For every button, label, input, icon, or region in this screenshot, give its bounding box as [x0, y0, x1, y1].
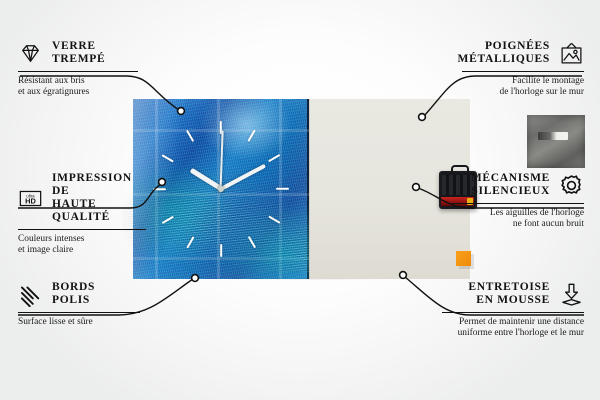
callout-desc-line1: Permet de maintenir une distance	[442, 317, 584, 328]
callout-poignees-metalliques: POIGNÉES MÉTALLIQUES Facilite le montage…	[462, 40, 584, 99]
svg-text:HD: HD	[25, 196, 36, 205]
callout-title-line1: ENTRETOISE	[468, 281, 550, 294]
callout-title-line2: POLIS	[52, 294, 95, 307]
foam-spacer-arrow-icon	[559, 282, 584, 307]
product-image	[133, 99, 470, 279]
callout-divider	[18, 312, 140, 313]
callout-title-line1: POIGNÉES	[458, 40, 550, 53]
callout-entretoise-en-mousse: ENTRETOISE EN MOUSSE Permet de maintenir…	[442, 281, 584, 340]
callout-title-line1: IMPRESSION DE	[52, 172, 146, 198]
callout-desc-line2: et aux égratignures	[18, 87, 138, 98]
callout-bords-polis: BORDS POLIS Surface lisse et sûre	[18, 281, 140, 328]
callout-desc-line1: Couleurs intenses	[18, 234, 146, 245]
foam-spacer	[456, 251, 471, 266]
clock-back-panel	[309, 99, 470, 279]
callout-mecanisme-silencieux: MÉCANISME SILENCIEUX Les aiguilles de l'…	[452, 172, 584, 231]
callout-desc-line2: uniforme entre l'horloge et le mur	[442, 328, 584, 339]
diamond-icon	[18, 41, 43, 66]
callout-title-line2: HAUTE QUALITÉ	[52, 198, 146, 224]
callout-impression-haute-qualite: ultra HD IMPRESSION DE HAUTE QUALITÉ Cou…	[18, 172, 146, 257]
callout-title-line1: MÉCANISME	[471, 172, 550, 185]
callout-verre-trempe: VERRE TREMPÉ Résistant aux bris et aux é…	[18, 40, 138, 99]
callout-title-line2: TREMPÉ	[52, 53, 105, 66]
callout-desc-line2: de l'horloge sur le mur	[462, 87, 584, 98]
callout-desc-line1: Résistant aux bris	[18, 76, 138, 87]
callout-desc-line1: Les aiguilles de l'horloge	[452, 208, 584, 219]
hanger-slot	[538, 132, 568, 140]
callout-divider	[442, 312, 584, 313]
gear-icon	[559, 173, 584, 198]
callout-title-line2: MÉTALLIQUES	[458, 53, 550, 66]
polished-edges-icon	[18, 282, 43, 307]
callout-title-line2: EN MOUSSE	[468, 294, 550, 307]
metal-hanger-plate	[527, 115, 585, 168]
infographic-canvas: VERRE TREMPÉ Résistant aux bris et aux é…	[0, 0, 600, 400]
callout-divider	[452, 203, 584, 204]
callout-desc-line1: Facilite le montage	[462, 76, 584, 87]
clock-center-hub	[218, 186, 224, 192]
callout-desc-line2: et image claire	[18, 245, 146, 256]
callout-title-line1: BORDS	[52, 281, 95, 294]
callout-title-line1: VERRE	[52, 40, 105, 53]
callout-divider	[18, 229, 146, 230]
callout-divider	[18, 71, 138, 72]
ultra-hd-icon: ultra HD	[18, 186, 43, 211]
callout-desc-line1: Surface lisse et sûre	[18, 317, 140, 328]
callout-divider	[462, 71, 584, 72]
callout-desc-line2: ne font aucun bruit	[452, 219, 584, 230]
callout-title-line2: SILENCIEUX	[471, 185, 550, 198]
clock-front-panel	[133, 99, 309, 279]
picture-frame-hanger-icon	[559, 41, 584, 66]
